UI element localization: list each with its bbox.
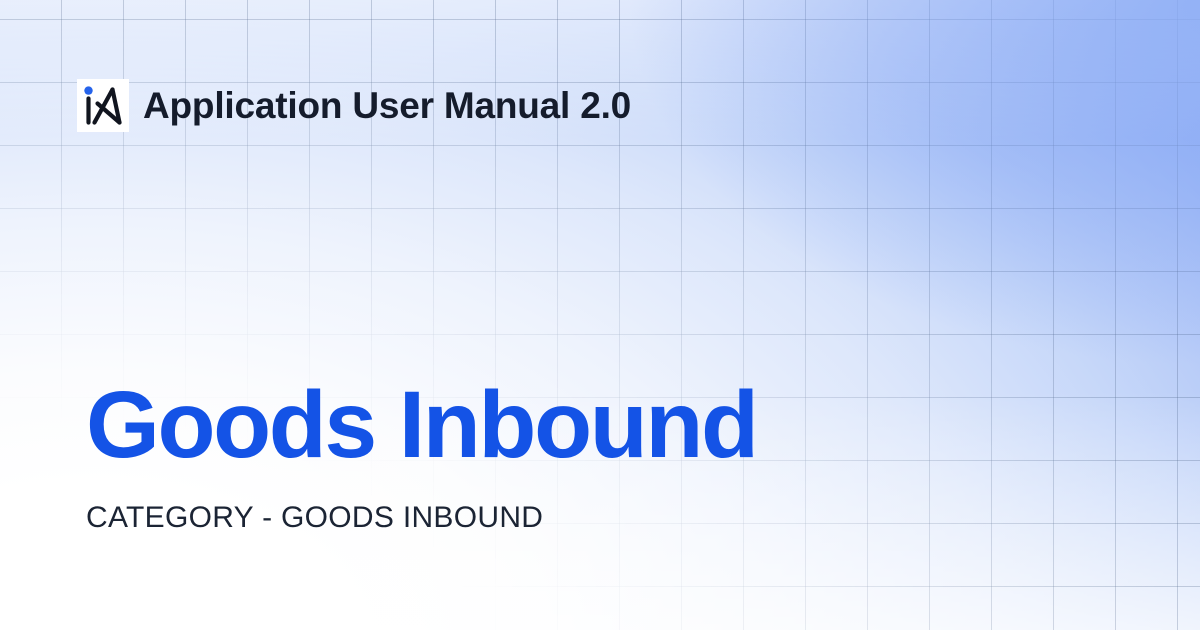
page-title: Goods Inbound bbox=[86, 378, 757, 473]
header-title: Application User Manual 2.0 bbox=[143, 87, 631, 124]
ix-monogram-logo-icon bbox=[81, 85, 125, 127]
page-subtitle: CATEGORY - GOODS INBOUND bbox=[86, 473, 757, 533]
cover-page: Application User Manual 2.0 Goods Inboun… bbox=[0, 0, 1200, 630]
logo-card bbox=[77, 79, 129, 132]
title-block: Goods Inbound CATEGORY - GOODS INBOUND bbox=[86, 378, 757, 533]
header: Application User Manual 2.0 bbox=[77, 79, 631, 132]
